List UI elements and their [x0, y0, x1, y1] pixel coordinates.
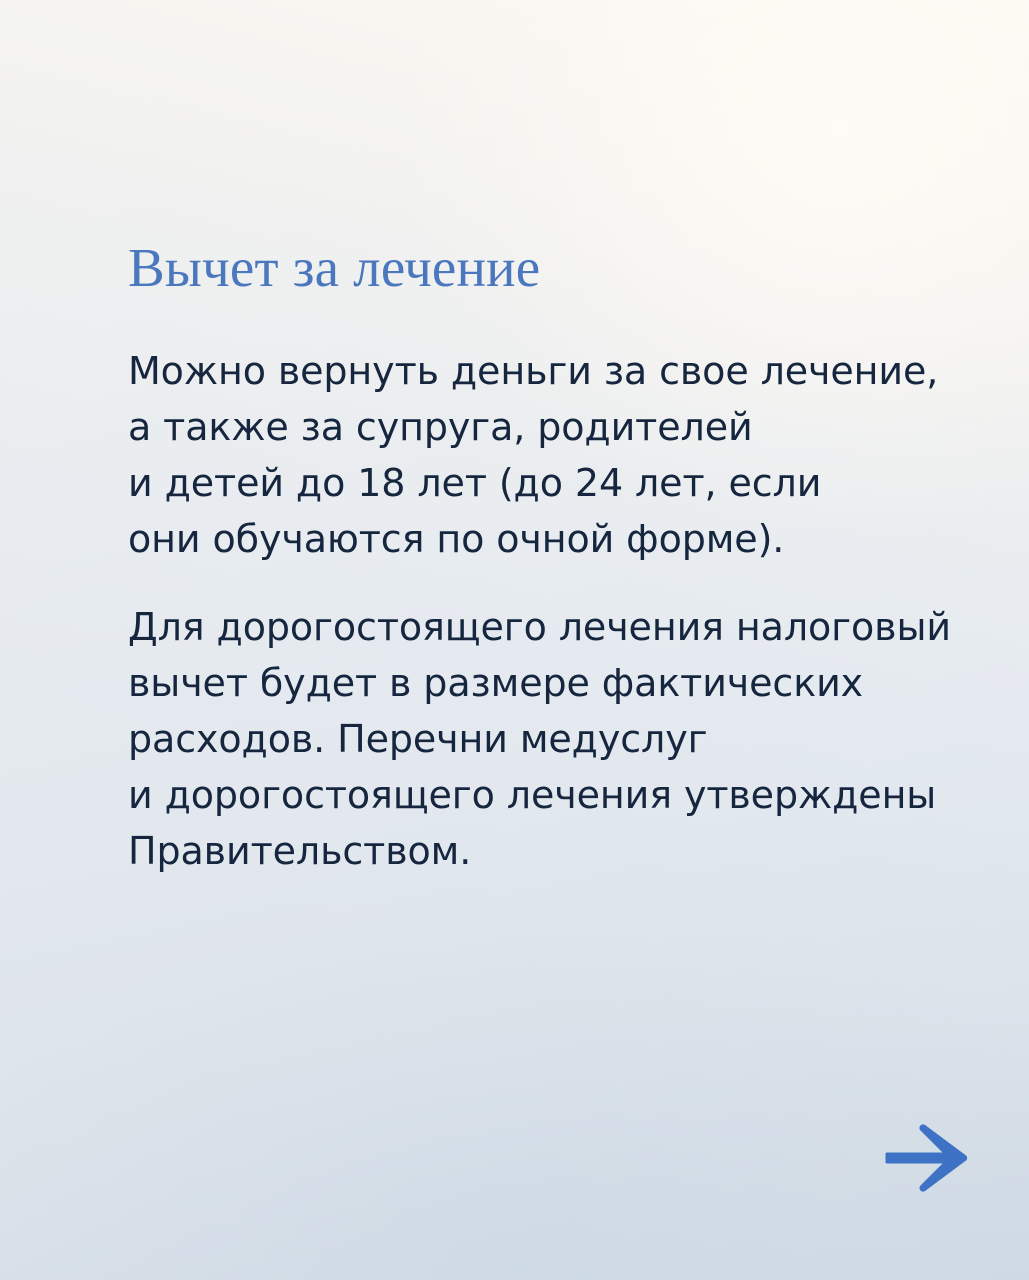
body-paragraph-1: Можно вернуть деньги за свое лечение, а … — [128, 343, 978, 567]
slide-content: Вычет за лечение Можно вернуть деньги за… — [128, 236, 978, 879]
page-title: Вычет за лечение — [128, 236, 978, 300]
slide-card: Вычет за лечение Можно вернуть деньги за… — [0, 0, 1029, 1280]
next-slide-button[interactable] — [880, 1120, 976, 1196]
body-paragraph-2: Для дорогостоящего лечения налоговый выч… — [128, 599, 978, 879]
arrow-right-icon — [880, 1120, 976, 1196]
